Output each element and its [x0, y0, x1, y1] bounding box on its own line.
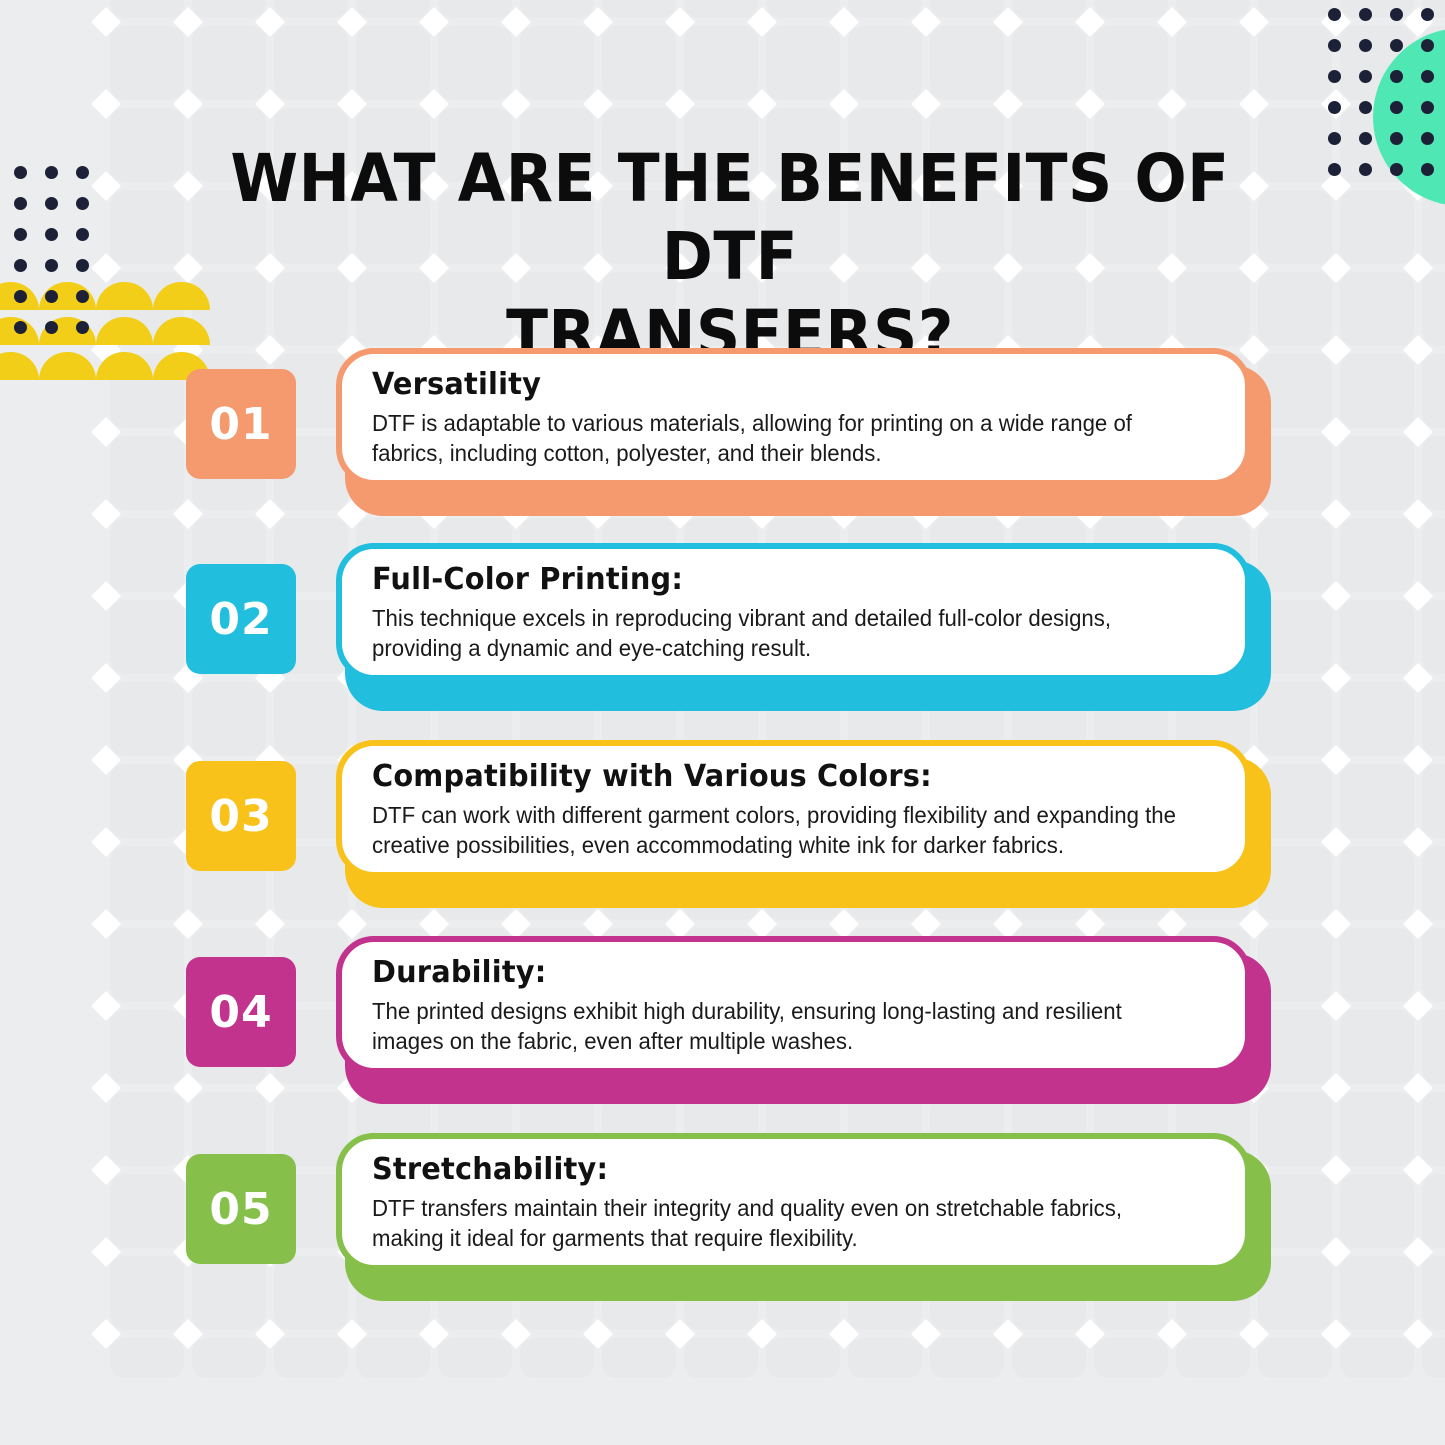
card-panel: Compatibility with Various Colors: DTF c…	[336, 740, 1251, 878]
card-body-wrapper: Compatibility with Various Colors: DTF c…	[336, 740, 1271, 908]
dot	[1390, 70, 1403, 83]
page-title: WHAT ARE THE BENEFITS OF DTF TRANSFERS?	[219, 140, 1242, 374]
dot	[1359, 132, 1372, 145]
dot	[1390, 8, 1403, 21]
dot	[1421, 39, 1434, 52]
card-title: Durability:	[372, 954, 1185, 992]
dot	[76, 259, 89, 272]
halfcircle	[153, 282, 210, 310]
dot	[1328, 8, 1341, 21]
card-description: DTF can work with different garment colo…	[372, 800, 1189, 860]
dot	[1328, 70, 1341, 83]
card-number-badge: 01	[186, 369, 296, 479]
dot	[1390, 101, 1403, 114]
dot	[1328, 163, 1341, 176]
dot	[1328, 101, 1341, 114]
card-number-badge: 03	[186, 761, 296, 871]
card-number-label: 05	[209, 1184, 272, 1235]
benefit-card: 05 Stretchability: DTF transfers maintai…	[186, 1133, 1271, 1301]
card-description: This technique excels in reproducing vib…	[372, 603, 1189, 663]
dot	[45, 228, 58, 241]
halfcircle	[153, 317, 210, 345]
card-number-badge: 02	[186, 564, 296, 674]
dot	[1390, 39, 1403, 52]
dot	[76, 321, 89, 334]
dot	[1328, 39, 1341, 52]
dot	[1359, 39, 1372, 52]
dot	[14, 228, 27, 241]
dot	[76, 197, 89, 210]
dot	[1421, 163, 1434, 176]
dot	[1421, 70, 1434, 83]
card-panel: Versatility DTF is adaptable to various …	[336, 348, 1251, 486]
card-title: Full-Color Printing:	[372, 561, 1185, 599]
card-number-label: 03	[209, 791, 272, 842]
dot	[14, 321, 27, 334]
dot	[1359, 163, 1372, 176]
card-title: Stretchability:	[372, 1151, 1185, 1189]
card-body-wrapper: Full-Color Printing: This technique exce…	[336, 543, 1271, 711]
card-number-label: 01	[209, 399, 272, 450]
card-description: DTF is adaptable to various materials, a…	[372, 408, 1189, 468]
card-title: Versatility	[372, 366, 1185, 404]
card-panel: Stretchability: DTF transfers maintain t…	[336, 1133, 1251, 1271]
card-number-label: 02	[209, 594, 272, 645]
card-number-badge: 05	[186, 1154, 296, 1264]
dot	[1421, 101, 1434, 114]
card-number-badge: 04	[186, 957, 296, 1067]
dot	[45, 259, 58, 272]
card-body-wrapper: Stretchability: DTF transfers maintain t…	[336, 1133, 1271, 1301]
benefit-card: 04 Durability: The printed designs exhib…	[186, 936, 1271, 1104]
dot	[1359, 70, 1372, 83]
dot	[45, 290, 58, 303]
dot	[76, 290, 89, 303]
dot	[14, 197, 27, 210]
dot	[76, 166, 89, 179]
dot	[45, 166, 58, 179]
infographic-canvas: WHAT ARE THE BENEFITS OF DTF TRANSFERS? …	[0, 0, 1445, 1445]
dot	[1390, 132, 1403, 145]
dot	[14, 290, 27, 303]
card-title: Compatibility with Various Colors:	[372, 758, 1185, 796]
card-description: The printed designs exhibit high durabil…	[372, 996, 1189, 1056]
halfcircle	[0, 352, 39, 380]
dot	[14, 166, 27, 179]
dot	[14, 259, 27, 272]
dot	[1421, 132, 1434, 145]
dot	[76, 228, 89, 241]
benefit-card: 02 Full-Color Printing: This technique e…	[186, 543, 1271, 711]
dot	[1359, 8, 1372, 21]
dot	[1359, 101, 1372, 114]
dot-grid-left	[14, 166, 107, 352]
benefit-card: 03 Compatibility with Various Colors: DT…	[186, 740, 1271, 908]
dot	[45, 197, 58, 210]
card-body-wrapper: Versatility DTF is adaptable to various …	[336, 348, 1271, 516]
benefit-card: 01 Versatility DTF is adaptable to vario…	[186, 348, 1271, 516]
card-number-label: 04	[209, 987, 272, 1038]
dot	[1390, 163, 1403, 176]
card-body-wrapper: Durability: The printed designs exhibit …	[336, 936, 1271, 1104]
page-title-line-1: WHAT ARE THE BENEFITS OF DTF	[230, 140, 1229, 295]
halfcircle	[96, 352, 153, 380]
halfcircle	[39, 352, 96, 380]
dot	[1328, 132, 1341, 145]
dot	[45, 321, 58, 334]
card-panel: Durability: The printed designs exhibit …	[336, 936, 1251, 1074]
dot	[1421, 8, 1434, 21]
dot-grid-top-right	[1328, 8, 1445, 194]
card-description: DTF transfers maintain their integrity a…	[372, 1193, 1189, 1253]
card-panel: Full-Color Printing: This technique exce…	[336, 543, 1251, 681]
